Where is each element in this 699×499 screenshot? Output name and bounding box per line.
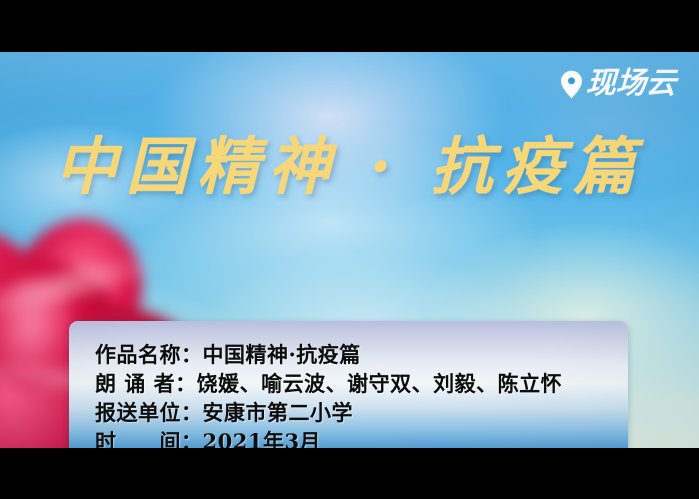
slide-frame: 现场云 中国精神 · 抗疫篇 作品名称：中国精神·抗疫篇 朗 诵 者：饶媛、喻云… <box>0 52 699 448</box>
video-player-stage: 现场云 中国精神 · 抗疫篇 作品名称：中国精神·抗疫篇 朗 诵 者：饶媛、喻云… <box>0 0 699 499</box>
info-line-title: 作品名称：中国精神·抗疫篇 <box>95 340 618 369</box>
page-title: 中国精神 · 抗疫篇 <box>0 134 699 199</box>
info-panel: 作品名称：中国精神·抗疫篇 朗 诵 者：饶媛、喻云波、谢守双、刘毅、陈立怀 报送… <box>69 321 628 448</box>
info-line-date: 时 间：2021年3月 <box>95 427 618 448</box>
info-panel-lines: 作品名称：中国精神·抗疫篇 朗 诵 者：饶媛、喻云波、谢守双、刘毅、陈立怀 报送… <box>95 340 618 448</box>
info-line-organization: 报送单位：安康市第二小学 <box>95 398 618 427</box>
letterbox-bar-top <box>0 0 699 52</box>
brand-logo-text: 现场云 <box>585 69 677 99</box>
info-line-reciters: 朗 诵 者：饶媛、喻云波、谢守双、刘毅、陈立怀 <box>95 369 618 398</box>
brand-logo: 现场云 <box>560 69 676 99</box>
letterbox-bar-bottom <box>0 448 699 499</box>
location-pin-icon <box>560 70 583 99</box>
rose-highlight <box>0 248 170 324</box>
rose-petal <box>0 209 73 417</box>
